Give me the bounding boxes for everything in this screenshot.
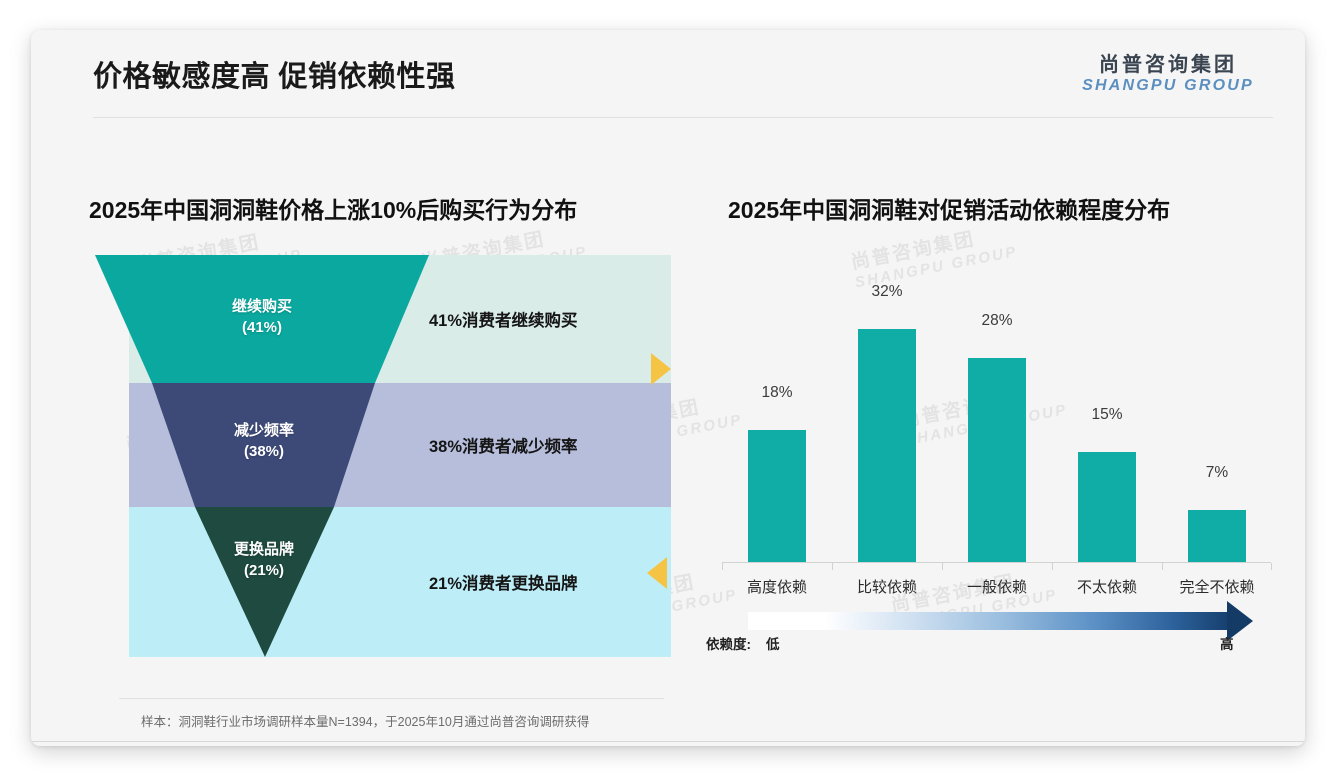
bar-category-label: 不太依赖	[1059, 576, 1155, 597]
axis-tick	[1162, 563, 1163, 570]
axis-tick	[1271, 563, 1272, 570]
brand-logo: 尚普咨询集团 SHANGPU GROUP	[1063, 54, 1273, 96]
right-chart-title: 2025年中国洞洞鞋对促销活动依赖程度分布	[728, 191, 1170, 225]
bar-value-label: 32%	[848, 283, 926, 301]
dependency-gradient-legend: 依赖度: 低 高	[686, 595, 1286, 665]
funnel-chart: 41%消费者继续购买 38%消费者减少频率 21%消费者更换品牌 继续购买 (4…	[89, 255, 679, 675]
funnel-label-continue: 继续购买 (41%)	[197, 297, 327, 338]
logo-english-text: SHANGPU GROUP	[1063, 76, 1273, 95]
axis-tick	[832, 563, 833, 570]
axis-tick	[722, 563, 723, 570]
bar-category-label: 完全不依赖	[1164, 576, 1270, 597]
bar-category-label: 高度依赖	[729, 576, 825, 597]
bar-segment[interactable]	[748, 430, 806, 562]
bar-category-label: 比较依赖	[839, 576, 935, 597]
arrow-right-icon	[651, 353, 671, 385]
arrow-left-icon	[647, 557, 667, 589]
bar-value-label: 28%	[958, 312, 1036, 330]
funnel-label-reduce: 减少频率 (38%)	[199, 421, 329, 462]
bar-value-label: 7%	[1178, 464, 1256, 482]
source-footnote: 样本：洞洞鞋行业市场调研样本量N=1394，于2025年10月通过尚普咨询调研获…	[141, 711, 589, 730]
bar-chart-axis	[722, 562, 1271, 563]
bar-category-label: 一般依赖	[949, 576, 1045, 597]
slide-header: 价格敏感度高 促销依赖性强 尚普咨询集团 SHANGPU GROUP	[31, 30, 1305, 118]
bar-segment[interactable]	[1078, 452, 1136, 562]
slide-canvas: 价格敏感度高 促销依赖性强 尚普咨询集团 SHANGPU GROUP 2025年…	[0, 0, 1340, 780]
axis-tick	[1052, 563, 1053, 570]
footnote-divider	[119, 698, 664, 699]
bar-segment[interactable]	[1188, 510, 1246, 562]
funnel-segment-switch	[195, 507, 334, 657]
legend-high-label: 高	[1220, 633, 1234, 653]
funnel-label-switch: 更换品牌 (21%)	[199, 540, 329, 581]
bar-segment[interactable]	[858, 329, 916, 562]
bar-value-label: 15%	[1068, 406, 1146, 424]
logo-chinese-text: 尚普咨询集团	[1063, 54, 1273, 76]
funnel-shape	[89, 255, 679, 675]
slide-card: 价格敏感度高 促销依赖性强 尚普咨询集团 SHANGPU GROUP 2025年…	[31, 30, 1305, 746]
legend-title: 依赖度:	[706, 633, 751, 653]
bar-chart: 18% 高度依赖 32% 比较依赖 28% 一般依赖 15% 不太依赖 7% 完…	[686, 280, 1286, 600]
axis-tick	[942, 563, 943, 570]
header-divider	[93, 117, 1273, 118]
gradient-bar	[748, 612, 1228, 630]
left-chart-title: 2025年中国洞洞鞋价格上涨10%后购买行为分布	[89, 191, 577, 225]
bar-value-label: 18%	[738, 384, 816, 402]
footer-divider	[31, 741, 1305, 742]
legend-low-label: 低	[766, 633, 780, 653]
page-title: 价格敏感度高 促销依赖性强	[93, 53, 456, 95]
bar-segment[interactable]	[968, 358, 1026, 562]
